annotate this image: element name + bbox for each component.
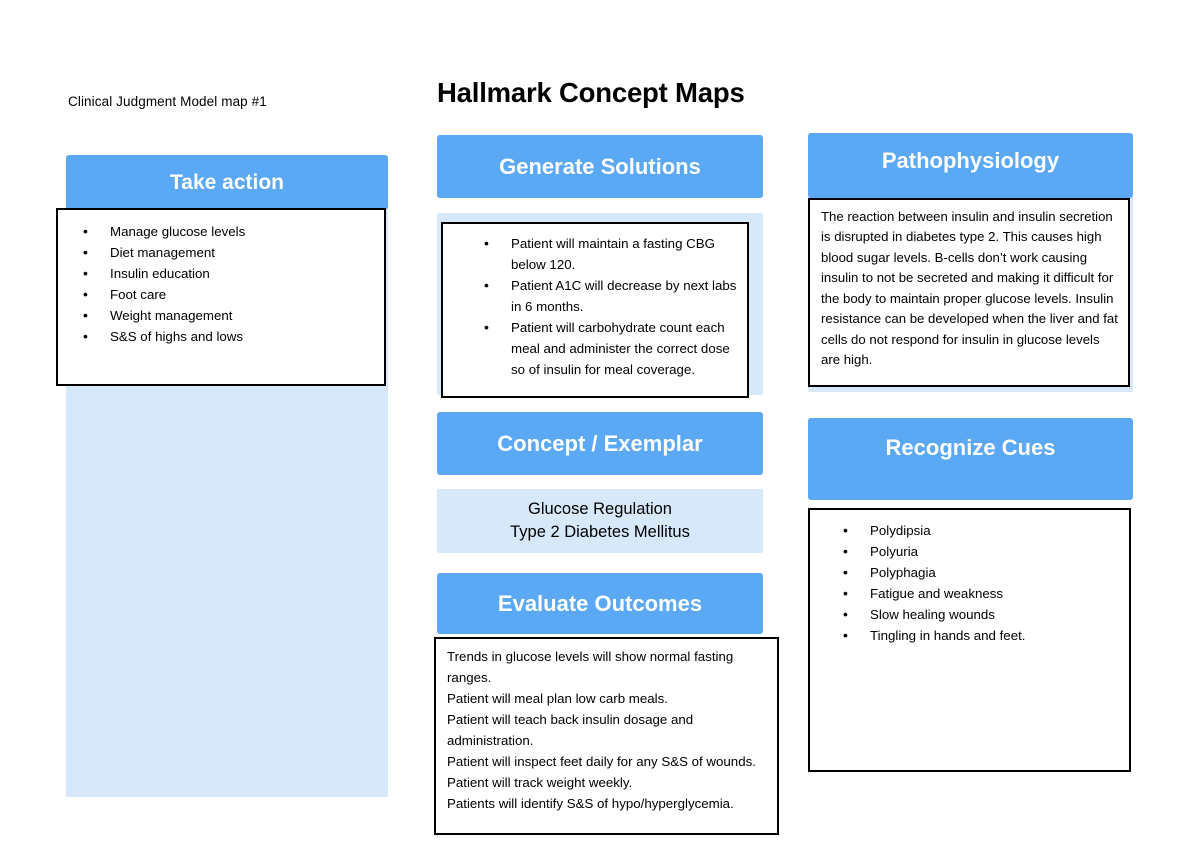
generate-solutions-content-box[interactable]: Patient will maintain a fasting CBG belo… <box>441 222 749 398</box>
pathophysiology-header[interactable]: Pathophysiology <box>808 133 1133 198</box>
list-item: Patient will carbohydrate count each mea… <box>511 317 739 380</box>
list-item: S&S of highs and lows <box>110 326 384 347</box>
recognize-cues-content-box[interactable]: Polydipsia Polyuria Polyphagia Fatigue a… <box>808 508 1131 772</box>
list-item: Foot care <box>110 284 384 305</box>
list-item: Insulin education <box>110 263 384 284</box>
document-subtitle: Clinical Judgment Model map #1 <box>68 94 267 109</box>
pathophysiology-text: The reaction between insulin and insulin… <box>821 207 1119 371</box>
list-item: Polyuria <box>870 541 1129 562</box>
list-item: Weight management <box>110 305 384 326</box>
list-item: Fatigue and weakness <box>870 583 1129 604</box>
take-action-header[interactable]: Take action <box>66 155 388 210</box>
take-action-content-box[interactable]: Manage glucose levels Diet management In… <box>56 208 386 386</box>
list-item: Patient will maintain a fasting CBG belo… <box>511 233 739 275</box>
generate-solutions-header[interactable]: Generate Solutions <box>437 135 763 198</box>
list-item: Patients will identify S&S of hypo/hyper… <box>447 793 766 814</box>
recognize-cues-header[interactable]: Recognize Cues <box>808 418 1133 500</box>
take-action-list: Manage glucose levels Diet management In… <box>58 221 384 347</box>
list-item: Manage glucose levels <box>110 221 384 242</box>
evaluate-outcomes-header[interactable]: Evaluate Outcomes <box>437 573 763 634</box>
list-item: Patient A1C will decrease by next labs i… <box>511 275 739 317</box>
recognize-cues-header-label: Recognize Cues <box>886 426 1056 460</box>
concept-line: Glucose Regulation <box>528 498 672 521</box>
exemplar-line: Type 2 Diabetes Mellitus <box>510 521 690 544</box>
concept-exemplar-content-panel[interactable]: Glucose Regulation Type 2 Diabetes Melli… <box>437 489 763 553</box>
pathophysiology-header-label: Pathophysiology <box>882 141 1059 173</box>
evaluate-outcomes-content-box[interactable]: Trends in glucose levels will show norma… <box>434 637 779 835</box>
concept-exemplar-header-label: Concept / Exemplar <box>497 420 702 456</box>
list-item: Diet management <box>110 242 384 263</box>
list-item: Slow healing wounds <box>870 604 1129 625</box>
list-item: Polyphagia <box>870 562 1129 583</box>
generate-solutions-list: Patient will maintain a fasting CBG belo… <box>443 233 747 380</box>
pathophysiology-content-box[interactable]: The reaction between insulin and insulin… <box>808 198 1130 387</box>
recognize-cues-list: Polydipsia Polyuria Polyphagia Fatigue a… <box>810 520 1129 646</box>
evaluate-outcomes-header-label: Evaluate Outcomes <box>498 581 702 616</box>
list-item: Tingling in hands and feet. <box>870 625 1129 646</box>
concept-exemplar-header[interactable]: Concept / Exemplar <box>437 412 763 475</box>
list-item: Patient will inspect feet daily for any … <box>447 751 766 772</box>
list-item: Patient will track weight weekly. <box>447 772 766 793</box>
take-action-header-label: Take action <box>170 163 284 194</box>
page-title: Hallmark Concept Maps <box>437 77 837 109</box>
list-item: Patient will meal plan low carb meals. <box>447 688 766 709</box>
generate-solutions-header-label: Generate Solutions <box>499 143 701 179</box>
list-item: Trends in glucose levels will show norma… <box>447 646 766 688</box>
list-item: Polydipsia <box>870 520 1129 541</box>
list-item: Patient will teach back insulin dosage a… <box>447 709 766 751</box>
